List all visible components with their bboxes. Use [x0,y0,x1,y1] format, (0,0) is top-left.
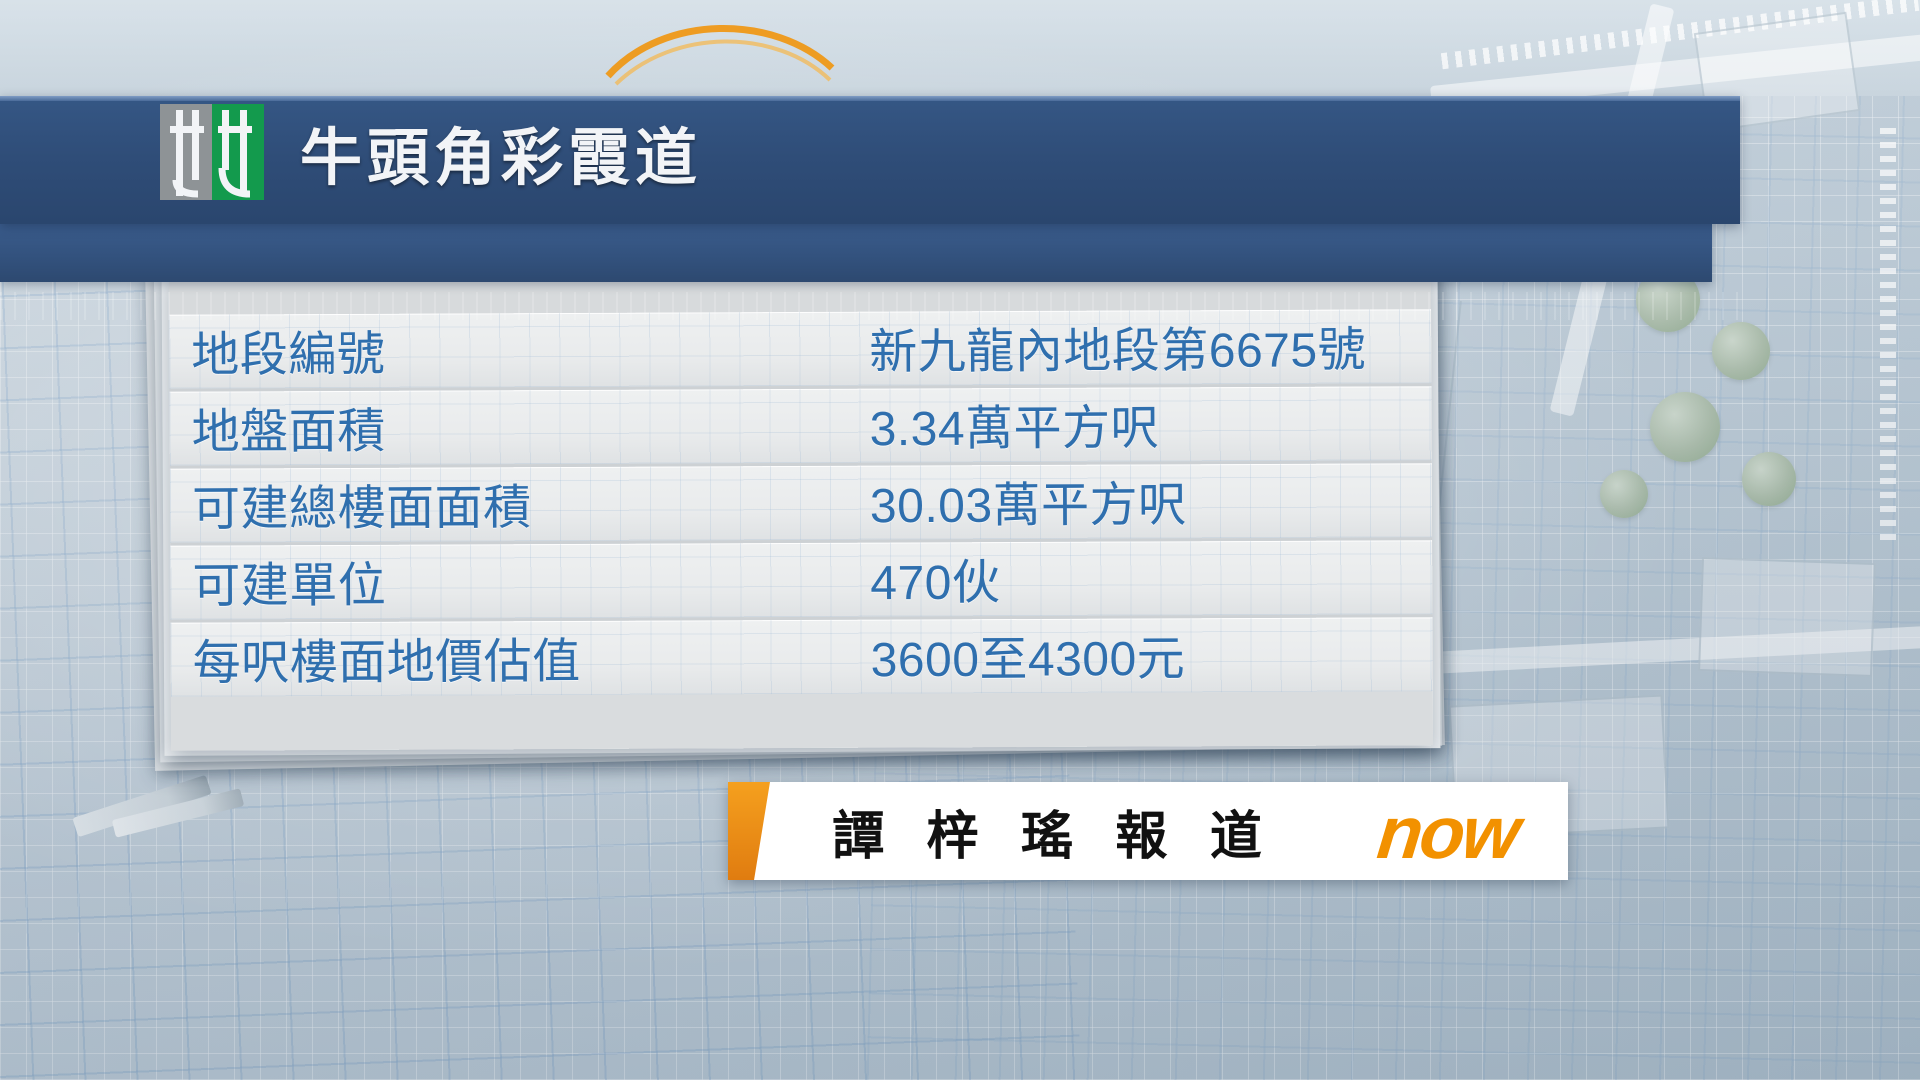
row-label: 地段編號 [191,314,385,385]
reporter-name: 譚 梓 瑤 報 道 [774,782,1334,880]
page-title: 牛頭角彩霞道 [300,104,702,200]
table-row: 地盤面積 3.34萬平方呎 [169,386,1431,469]
property-info-table: 地段編號 新九龍內地段第6675號 地盤面積 3.34萬平方呎 可建總樓面面積 … [169,267,1433,751]
header-underbar [0,224,1712,282]
row-value: 3600至4300元 [870,619,1185,690]
now-logo-text: now [1373,790,1521,875]
table-row: 地段編號 新九龍內地段第6675號 [169,309,1431,392]
now-logo-swoosh [604,10,836,90]
table-body: 地段編號 新九龍內地段第6675號 地盤面積 3.34萬平方呎 可建總樓面面積 … [169,309,1433,697]
reporter-byline-bar: 譚 梓 瑤 報 道 now [728,782,1568,880]
row-value: 新九龍內地段第6675號 [869,310,1366,382]
row-value: 3.34萬平方呎 [869,388,1159,459]
lands-department-logo [160,104,264,200]
row-label: 可建單位 [192,545,386,616]
row-value: 470伙 [870,543,1000,614]
now-tv-logo: now [1328,786,1566,878]
table-row: 每呎樓面地價估值 3600至4300元 [170,617,1432,697]
table-row: 可建總樓面面積 30.03萬平方呎 [170,463,1432,546]
header-tick-strip [0,292,1740,320]
row-label: 地盤面積 [191,391,385,462]
row-value: 30.03萬平方呎 [870,465,1187,536]
row-label: 每呎樓面地價估值 [192,622,580,694]
row-label: 可建總樓面面積 [192,468,532,539]
byline-accent-wedge [728,782,770,880]
table-row: 可建單位 470伙 [170,540,1432,623]
